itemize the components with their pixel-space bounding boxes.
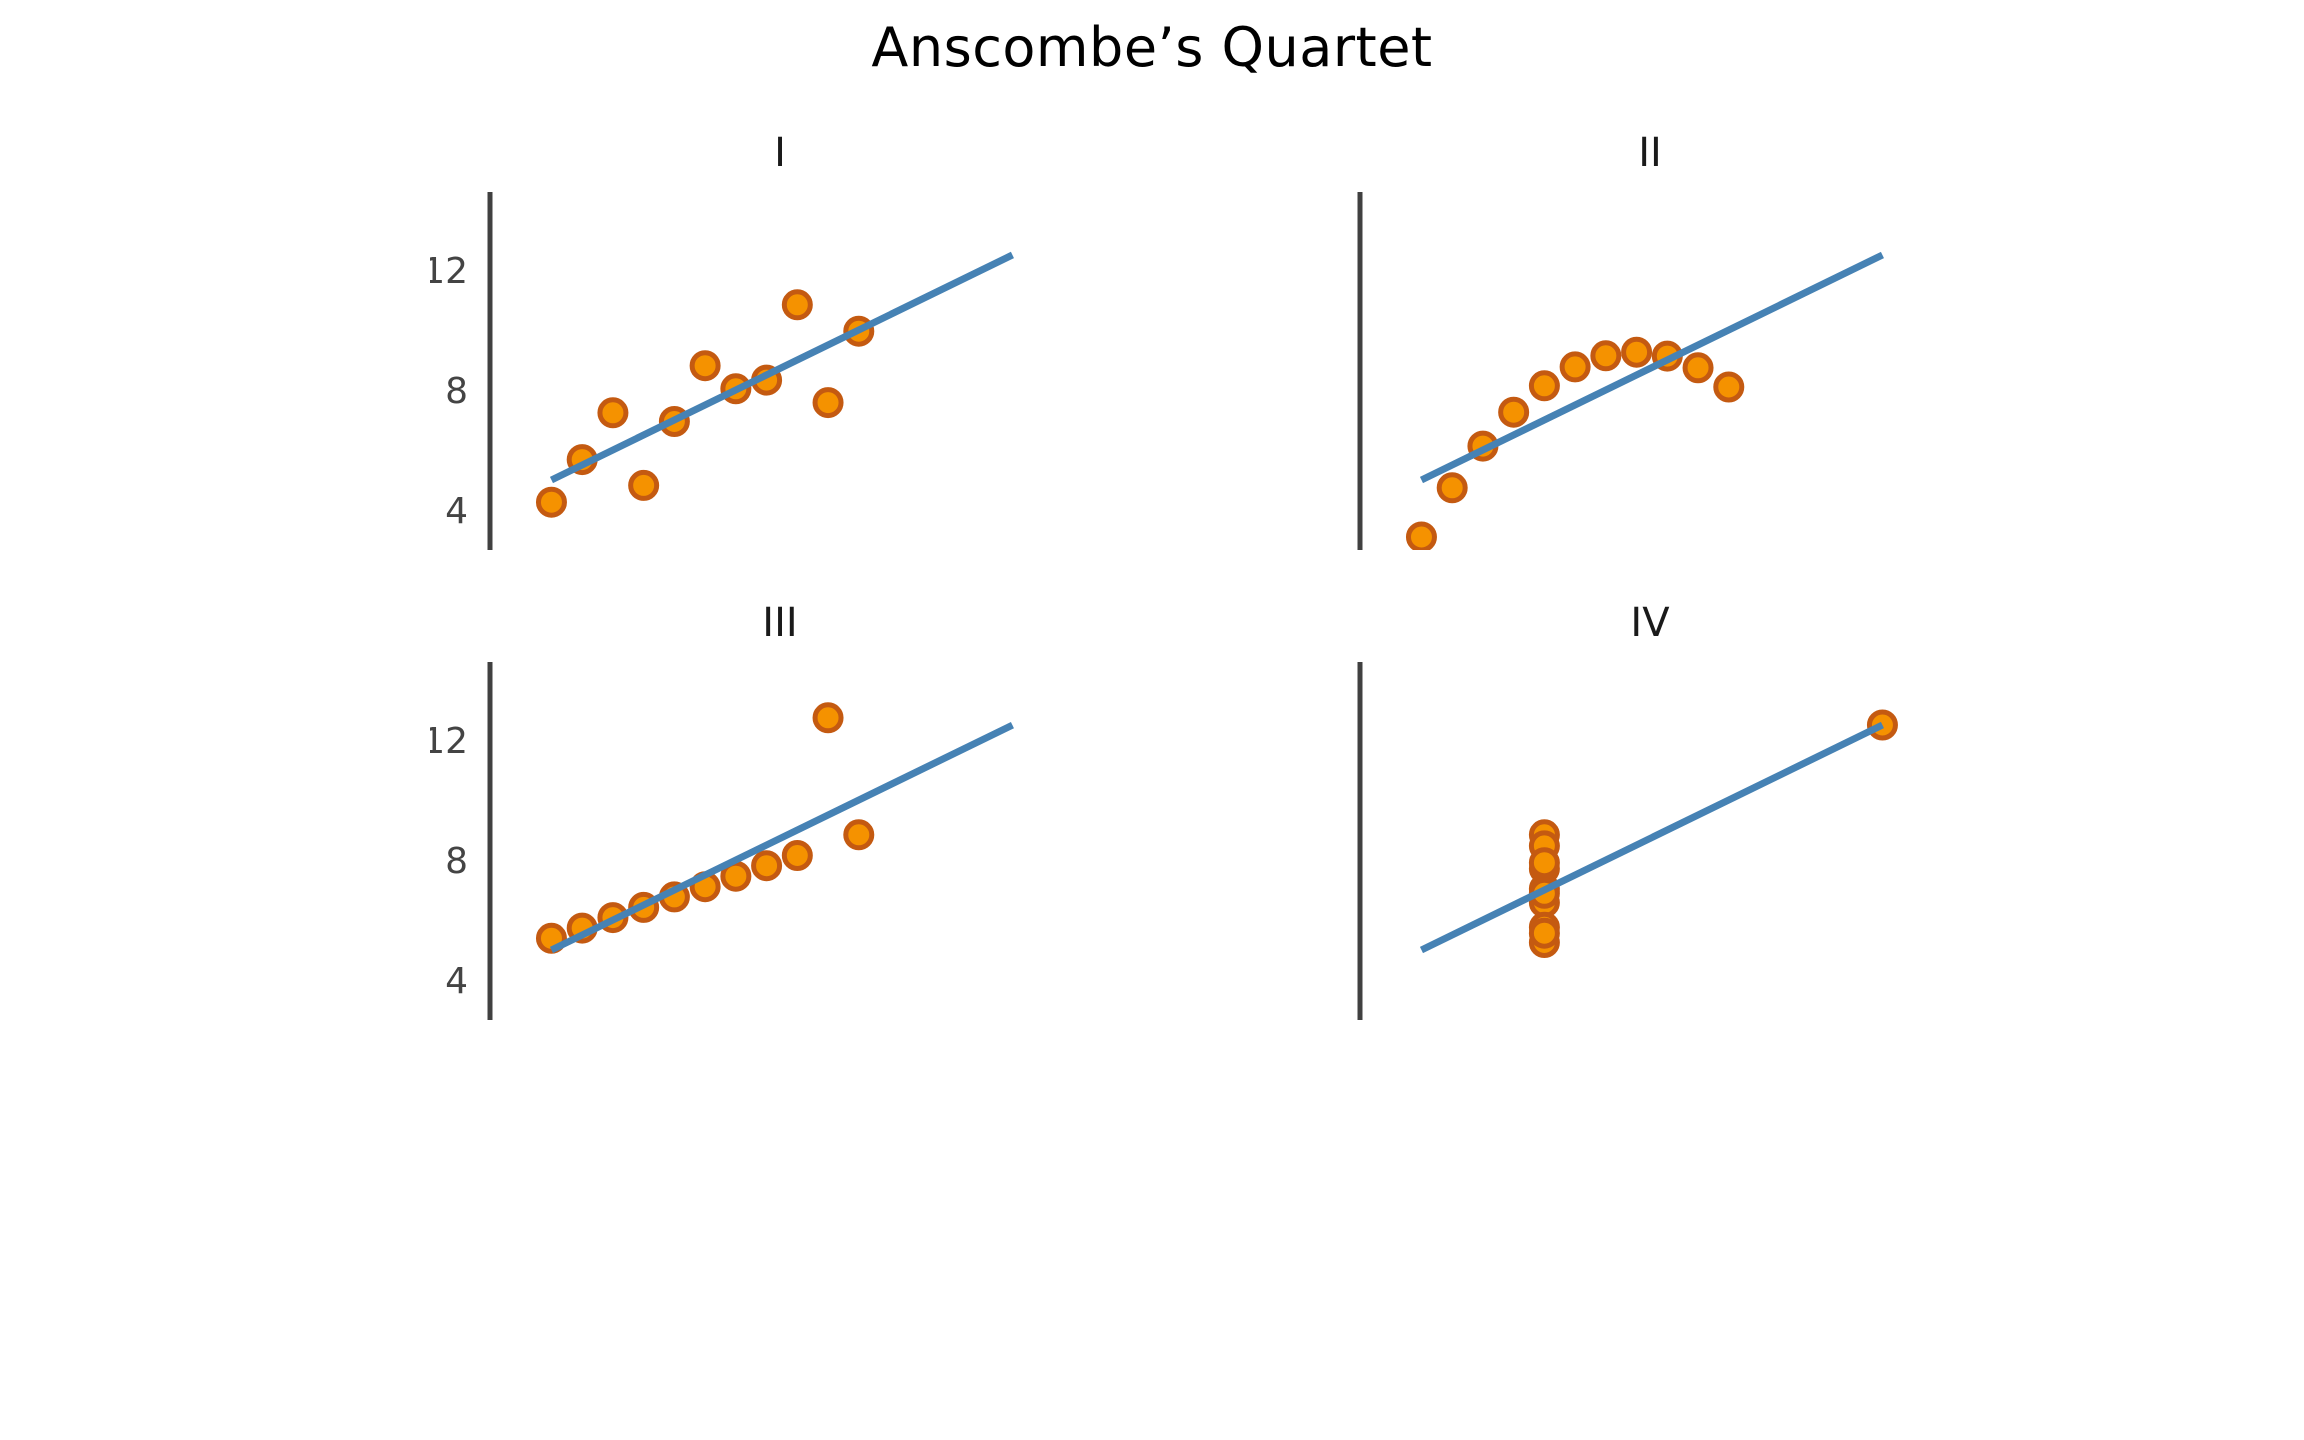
scatter-point (1408, 524, 1434, 550)
scatter-point (600, 400, 626, 426)
y-tick-label: 4 (445, 491, 468, 532)
subplot-title-i: I (430, 130, 1130, 176)
subplot-title-iii: III (430, 600, 1130, 646)
figure-canvas: Anscombe’s Quartet I4812IIIII48125101520… (0, 0, 2304, 1440)
scatter-point (754, 853, 780, 879)
scatter-points (538, 705, 871, 952)
subplot-grid: I4812IIIII48125101520IV5101520 (0, 110, 2304, 1440)
y-tick-label: 12 (430, 721, 468, 762)
plot-area-iii: 48125101520 (430, 652, 1130, 1020)
scatter-point (1531, 373, 1557, 399)
scatter-point (1685, 355, 1711, 381)
scatter-point (784, 292, 810, 318)
scatter-point (1593, 343, 1619, 369)
scatter-point (1562, 354, 1588, 380)
subplot-iii: III48125101520 (430, 600, 1130, 1020)
scatter-points (1408, 339, 1741, 550)
scatter-point (1501, 399, 1527, 425)
regression-line (551, 255, 1012, 480)
y-tick-label: 4 (445, 961, 468, 1002)
subplot-ii: II (1300, 130, 2000, 550)
subplot-title-iv: IV (1300, 600, 2000, 646)
scatter-point (692, 353, 718, 379)
plot-area-i: 4812 (430, 182, 1130, 550)
scatter-point (538, 489, 564, 515)
regression-line (1421, 255, 1882, 480)
scatter-point (1531, 850, 1557, 876)
subplot-i: I4812 (430, 130, 1130, 550)
scatter-point (1869, 712, 1895, 738)
scatter-point (784, 843, 810, 869)
plot-area-ii (1300, 182, 2000, 550)
page-title: Anscombe’s Quartet (0, 16, 2304, 79)
y-tick-label: 8 (445, 371, 468, 412)
scatter-point (1716, 374, 1742, 400)
y-tick-label: 12 (430, 251, 468, 292)
scatter-point (1624, 339, 1650, 365)
scatter-point (1531, 920, 1557, 946)
y-tick-label: 8 (445, 841, 468, 882)
scatter-point (815, 705, 841, 731)
regression-line (1421, 725, 1882, 950)
scatter-point (815, 390, 841, 416)
scatter-point (846, 822, 872, 848)
subplot-title-ii: II (1300, 130, 2000, 176)
plot-area-iv: 5101520 (1300, 652, 2000, 1020)
subplot-iv: IV5101520 (1300, 600, 2000, 1020)
scatter-point (631, 472, 657, 498)
regression-line (551, 725, 1012, 950)
scatter-point (1439, 475, 1465, 501)
